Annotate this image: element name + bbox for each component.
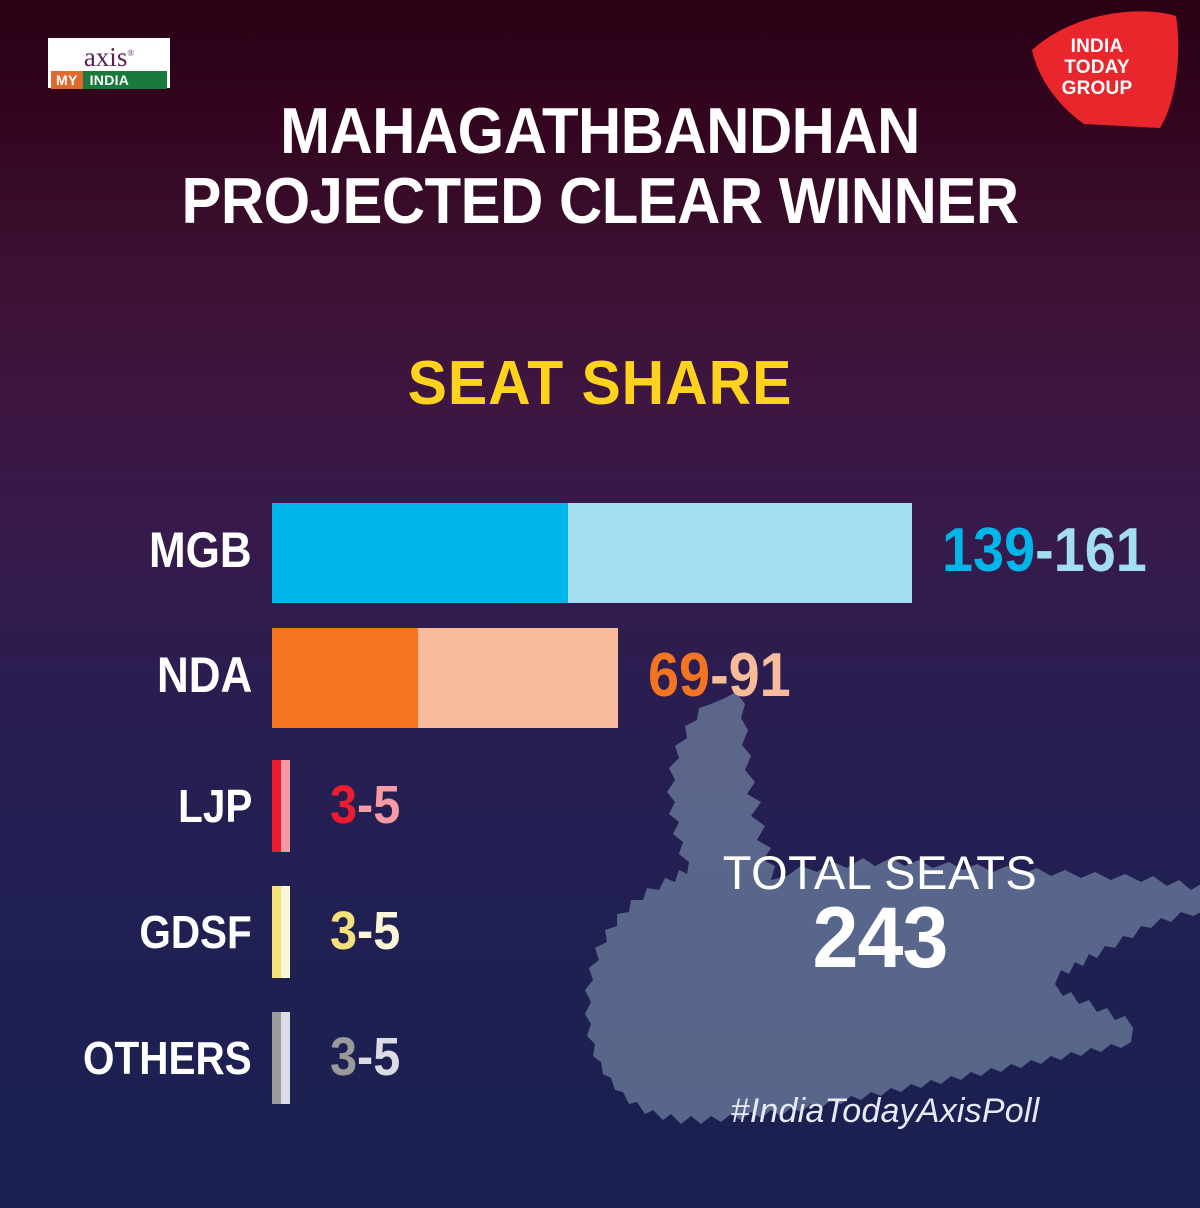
bar-segment-low-gdsf bbox=[272, 886, 281, 978]
bar-segment-high-mgb bbox=[568, 503, 912, 603]
axis-logo-word: axis® bbox=[51, 40, 167, 70]
value-low-gdsf: 3 bbox=[330, 901, 357, 961]
value-low-others: 3 bbox=[330, 1027, 357, 1087]
value-high-nda: -91 bbox=[710, 641, 791, 710]
bar-segment-low-others bbox=[272, 1012, 281, 1104]
headline: MAHAGATHBANDHAN PROJECTED CLEAR WINNER bbox=[48, 96, 1152, 236]
bar-mgb bbox=[272, 503, 912, 603]
bar-segment-high-nda bbox=[418, 628, 618, 728]
bar-ljp bbox=[272, 760, 290, 852]
value-low-mgb: 139 bbox=[942, 516, 1035, 585]
bar-segment-high-others bbox=[281, 1012, 290, 1104]
value-low-ljp: 3 bbox=[330, 775, 357, 835]
india-today-line1: INDIA bbox=[1024, 36, 1170, 57]
row-label-ljp: LJP bbox=[178, 783, 252, 829]
total-seats-number: 243 bbox=[650, 894, 1111, 982]
value-high-gdsf: -5 bbox=[357, 901, 400, 961]
value-others: 3-5 bbox=[330, 1030, 400, 1084]
section-title: SEAT SHARE bbox=[30, 352, 1170, 416]
value-ljp: 3-5 bbox=[330, 778, 400, 832]
row-label-nda: NDA bbox=[157, 650, 252, 700]
axis-logo-my: MY bbox=[51, 71, 83, 89]
value-high-ljp: -5 bbox=[357, 775, 400, 835]
bar-segment-high-ljp bbox=[281, 760, 290, 852]
bar-segment-low-mgb bbox=[272, 503, 568, 603]
row-label-gdsf: GDSF bbox=[140, 909, 252, 955]
value-high-others: -5 bbox=[357, 1027, 400, 1087]
hashtag: #IndiaTodayAxisPoll bbox=[640, 1092, 1130, 1131]
value-high-mgb: -161 bbox=[1035, 516, 1147, 585]
row-label-mgb: MGB bbox=[149, 525, 252, 575]
bar-others bbox=[272, 1012, 290, 1104]
registered-mark-icon: ® bbox=[127, 48, 134, 58]
row-label-others: OTHERS bbox=[83, 1035, 252, 1081]
infographic-poster: axis® MY INDIA INDIA TODAY GROUP MAHAGAT… bbox=[0, 0, 1200, 1208]
axis-logo-india: INDIA bbox=[83, 71, 167, 89]
bar-segment-low-ljp bbox=[272, 760, 281, 852]
headline-line-1: MAHAGATHBANDHAN bbox=[48, 96, 1152, 166]
axis-logo-band: MY INDIA bbox=[51, 71, 167, 89]
headline-line-2: PROJECTED CLEAR WINNER bbox=[48, 166, 1152, 236]
bar-segment-low-nda bbox=[272, 628, 418, 728]
value-mgb: 139-161 bbox=[942, 520, 1147, 582]
india-today-logo-text: INDIA TODAY GROUP bbox=[1024, 36, 1170, 99]
value-nda: 69-91 bbox=[648, 645, 791, 707]
axis-my-india-logo: axis® MY INDIA bbox=[48, 38, 170, 88]
bar-gdsf bbox=[272, 886, 290, 978]
total-seats-block: TOTAL SEATS 243 bbox=[640, 848, 1120, 982]
india-today-line2: TODAY bbox=[1024, 57, 1170, 78]
value-gdsf: 3-5 bbox=[330, 904, 400, 958]
bar-nda bbox=[272, 628, 618, 728]
value-low-nda: 69 bbox=[648, 641, 710, 710]
bar-segment-high-gdsf bbox=[281, 886, 290, 978]
